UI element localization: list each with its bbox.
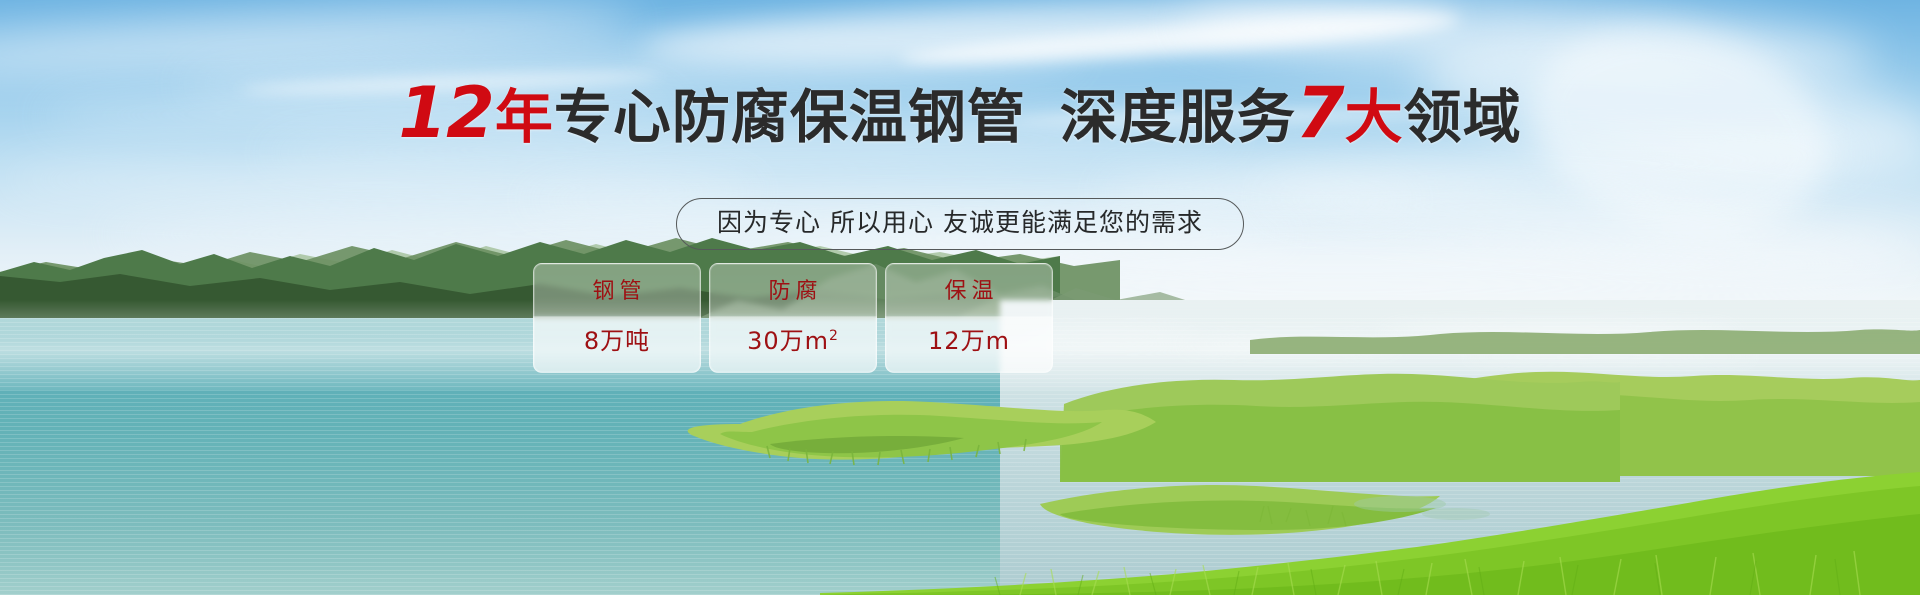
- banner-content: 12年专心防腐保温钢管深度服务7大领域 因为专心 所以用心 友诚更能满足您的需求…: [0, 0, 1920, 595]
- stat-card-label: 钢管: [587, 280, 646, 304]
- headline-years-number: 12: [398, 72, 493, 154]
- banner-headline: 12年专心防腐保温钢管深度服务7大领域: [0, 82, 1920, 148]
- stat-card-label: 防腐: [763, 280, 822, 304]
- stat-value-text: 30万m: [747, 327, 829, 355]
- stat-card-label: 保温: [939, 280, 998, 304]
- banner-subtitle-pill: 因为专心 所以用心 友诚更能满足您的需求: [676, 198, 1244, 250]
- stat-card-value: 12万m: [928, 328, 1010, 354]
- headline-years-unit: 年: [495, 83, 554, 151]
- hero-banner: 12年专心防腐保温钢管深度服务7大领域 因为专心 所以用心 友诚更能满足您的需求…: [0, 0, 1920, 595]
- stat-value-superscript: 2: [829, 328, 839, 344]
- stat-card-value: 8万吨: [584, 328, 650, 354]
- headline-fields-number: 7: [1296, 72, 1344, 154]
- headline-segment-1: 专心防腐保温钢管: [554, 83, 1026, 151]
- stat-cards: 钢管 8万吨 防腐 30万m2 保温 12万m: [533, 263, 1053, 373]
- headline-segment-2: 深度服务: [1060, 83, 1296, 151]
- headline-fields-unit: 大: [1345, 83, 1404, 151]
- stat-card-steel-pipe[interactable]: 钢管 8万吨: [533, 263, 701, 373]
- banner-subtitle-wrapper: 因为专心 所以用心 友诚更能满足您的需求: [0, 198, 1920, 250]
- stat-card-value: 30万m2: [747, 328, 839, 354]
- stat-value-text: 12万m: [928, 327, 1010, 355]
- stat-card-insulation[interactable]: 保温 12万m: [885, 263, 1053, 373]
- stat-card-anticorrosion[interactable]: 防腐 30万m2: [709, 263, 877, 373]
- stat-value-text: 8万吨: [584, 327, 650, 355]
- headline-segment-3: 领域: [1404, 83, 1522, 151]
